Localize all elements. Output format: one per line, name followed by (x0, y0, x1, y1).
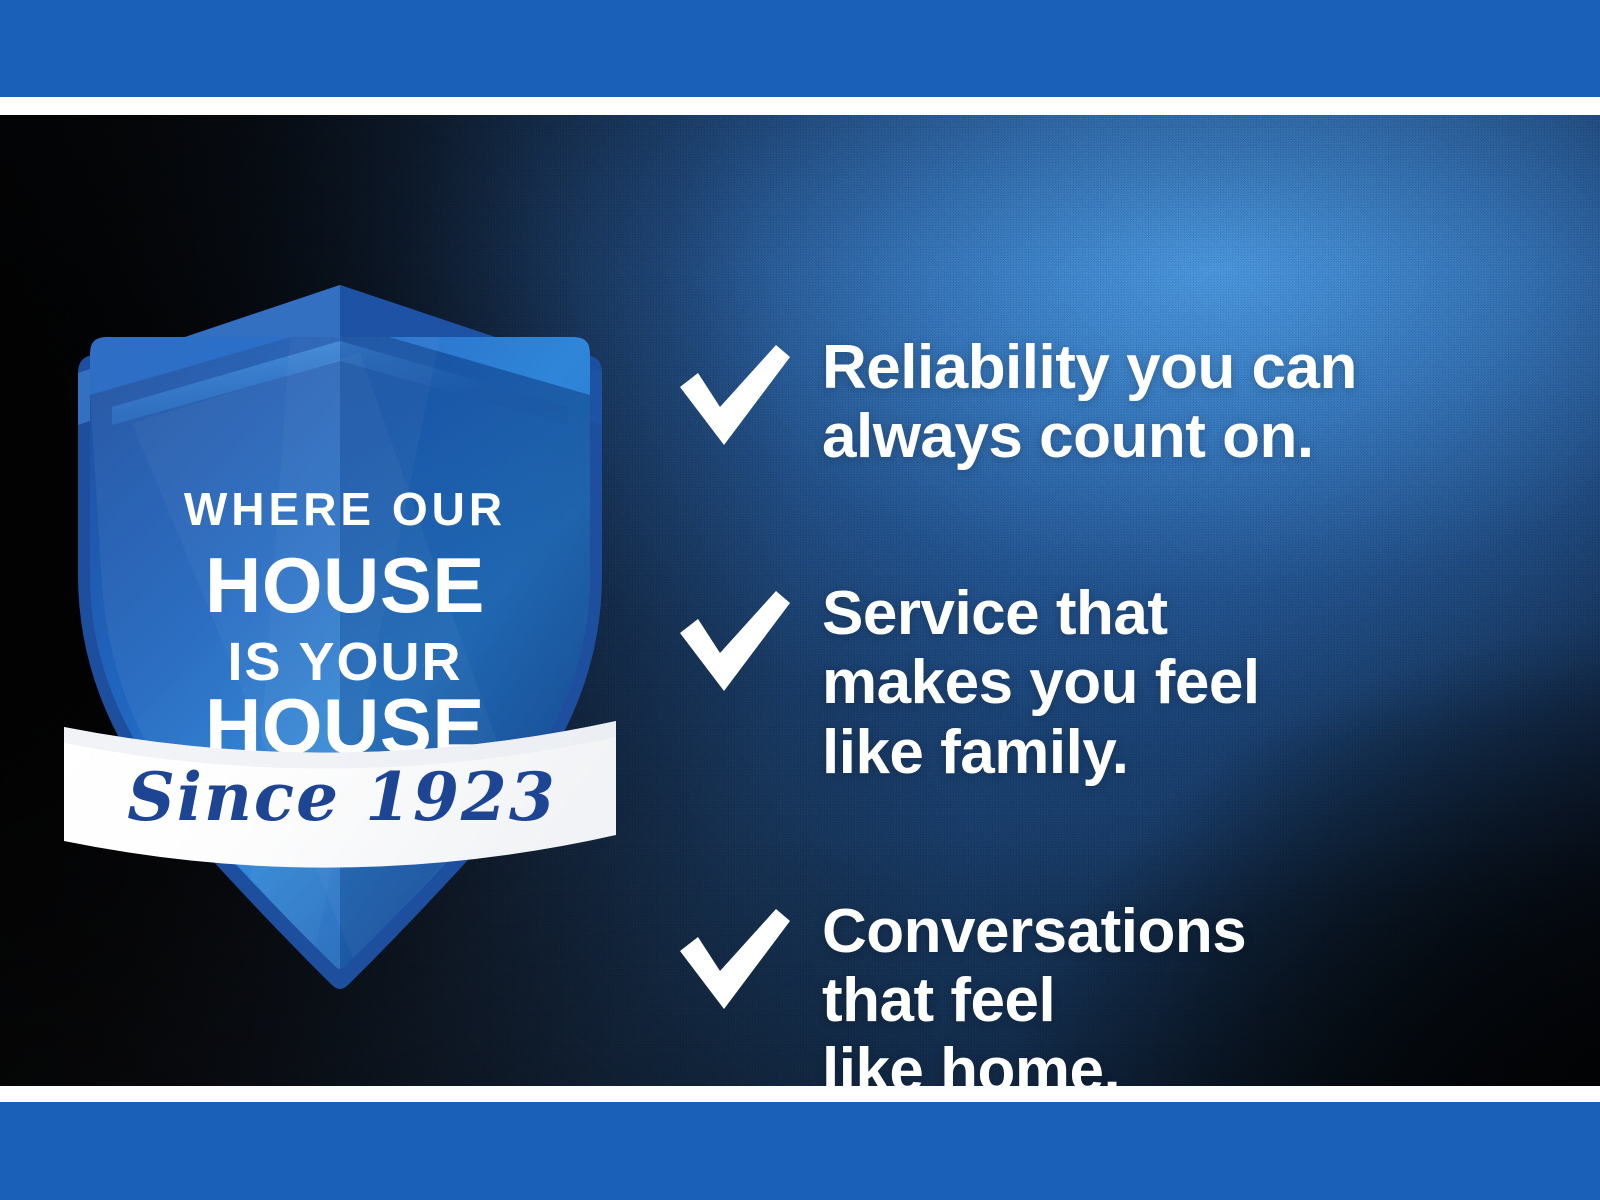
list-item-label: Conversations that feel like home. (822, 897, 1246, 1086)
banner-since-text: Since 1923 (127, 758, 557, 836)
checkmark-icon (672, 341, 796, 453)
top-divider-stripe (0, 97, 1600, 115)
list-item-label: Reliability you can always count on. (822, 333, 1357, 472)
bottom-brand-bar (0, 1102, 1600, 1200)
bottom-divider-stripe (0, 1086, 1600, 1102)
top-brand-bar (0, 0, 1600, 97)
list-item-label: Service that makes you feel like family. (822, 579, 1260, 787)
list-item: Reliability you can always count on. (672, 333, 1357, 472)
list-item: Conversations that feel like home. (672, 897, 1246, 1086)
shield-line-2: HOUSE (205, 541, 485, 629)
checkmark-icon (672, 587, 796, 699)
main-stage: WHERE OUR HOUSE IS YOUR HOUSE Since 1923 (0, 115, 1600, 1086)
list-item: Service that makes you feel like family. (672, 579, 1260, 787)
shield-line-1: WHERE OUR (184, 483, 506, 535)
shield-text-block: WHERE OUR HOUSE IS YOUR HOUSE (184, 483, 506, 770)
checkmark-icon (672, 905, 796, 1017)
value-prop-list: Reliability you can always count on. Ser… (672, 311, 1502, 1086)
promo-graphic: WHERE OUR HOUSE IS YOUR HOUSE Since 1923 (0, 0, 1600, 1200)
shield-logo: WHERE OUR HOUSE IS YOUR HOUSE Since 1923 (60, 275, 620, 1045)
